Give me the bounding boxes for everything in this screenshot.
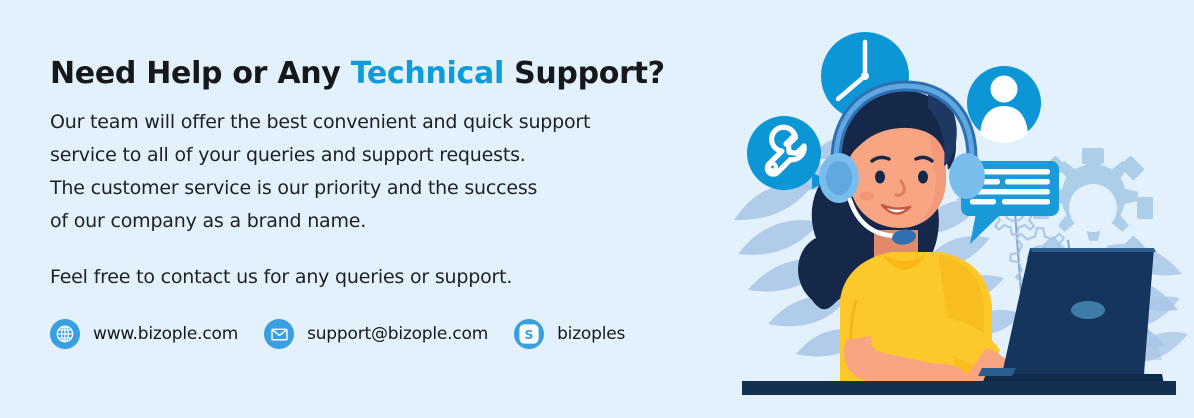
banner-content: Need Help or Any Technical Support? Our … [50,56,730,292]
skype-icon: S [514,319,544,349]
page-title: Need Help or Any Technical Support? [50,56,730,92]
contact-item-website[interactable]: www.bizople.com [50,319,238,349]
envelope-icon [264,319,294,349]
headline-part-2: Support? [504,56,665,91]
user-avatar-badge [967,66,1041,143]
globe-icon [50,319,80,349]
description-paragraph: Our team will offer the best convenient … [50,106,730,238]
description-line-2: service to all of your queries and suppo… [50,139,730,172]
contact-label-email: support@bizople.com [307,324,488,344]
description-line-3: The customer service is our priority and… [50,172,730,205]
contact-item-email[interactable]: support@bizople.com [264,319,488,349]
description-line-4: of our company as a brand name. [50,205,730,238]
cta-text: Feel free to contact us for any queries … [50,262,730,292]
contact-item-skype[interactable]: S bizoples [514,319,625,349]
support-illustration [724,0,1194,418]
support-banner: Need Help or Any Technical Support? Our … [0,0,1194,418]
contact-label-skype: bizoples [557,324,625,344]
description-line-1: Our team will offer the best convenient … [50,106,730,139]
headline-accent-word: Technical [351,56,504,91]
contact-row: www.bizople.com support@bizople.com S bi… [50,319,651,349]
svg-text:S: S [525,327,534,342]
wrench-speech-bubble [747,116,830,190]
headline-part-1: Need Help or Any [50,56,351,91]
contact-label-website: www.bizople.com [93,324,238,344]
desk [742,381,1176,395]
